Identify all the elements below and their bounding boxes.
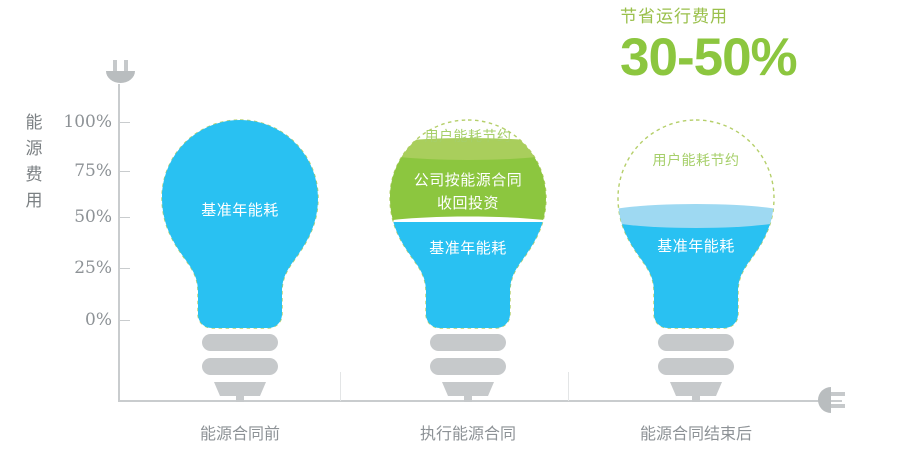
y-tick-label-0: 0%: [52, 310, 112, 330]
socket-icon: [818, 386, 850, 416]
headline-value: 30-50%: [620, 30, 890, 86]
y-tick-50: [119, 217, 130, 218]
y-axis-line: [118, 84, 120, 402]
bulb-3-graphic: [596, 96, 796, 406]
bulb-stage-1: 基准年能耗: [140, 96, 340, 406]
plug-icon: [104, 60, 138, 90]
infographic-canvas: 节省运行费用 30-50% 能源费用 100% 75% 50% 25% 0% 能…: [0, 0, 900, 473]
y-tick-25: [119, 268, 130, 269]
y-tick-75: [119, 171, 130, 172]
x-label-stage-2: 执行能源合同: [368, 420, 568, 444]
bulb-2-label-saving: 用户能耗节约: [368, 126, 568, 146]
x-label-stage-3: 能源合同结束后: [596, 420, 796, 444]
x-axis-separator-1: [340, 372, 341, 401]
bulb-stage-3: 用户能耗节约 基准年能耗: [596, 96, 796, 406]
y-tick-label-75: 75%: [52, 161, 112, 181]
bulb-stage-2: 用户能耗节约 公司按能源合同 收回投资 基准年能耗: [368, 96, 568, 406]
x-label-stage-1: 能源合同前: [140, 420, 340, 444]
y-tick-label-25: 25%: [52, 258, 112, 278]
y-tick-label-50: 50%: [52, 207, 112, 227]
headline-subtitle: 节省运行费用: [620, 6, 890, 28]
bulb-3-label-saving: 用户能耗节约: [596, 150, 796, 170]
y-tick-0: [119, 320, 130, 321]
y-tick-100: [119, 122, 130, 123]
bulb-1-graphic: [140, 96, 340, 406]
x-axis-separator-2: [568, 372, 569, 401]
y-tick-label-100: 100%: [52, 112, 112, 132]
headline-block: 节省运行费用 30-50%: [620, 6, 890, 86]
y-axis-title: 能源费用: [22, 110, 46, 214]
